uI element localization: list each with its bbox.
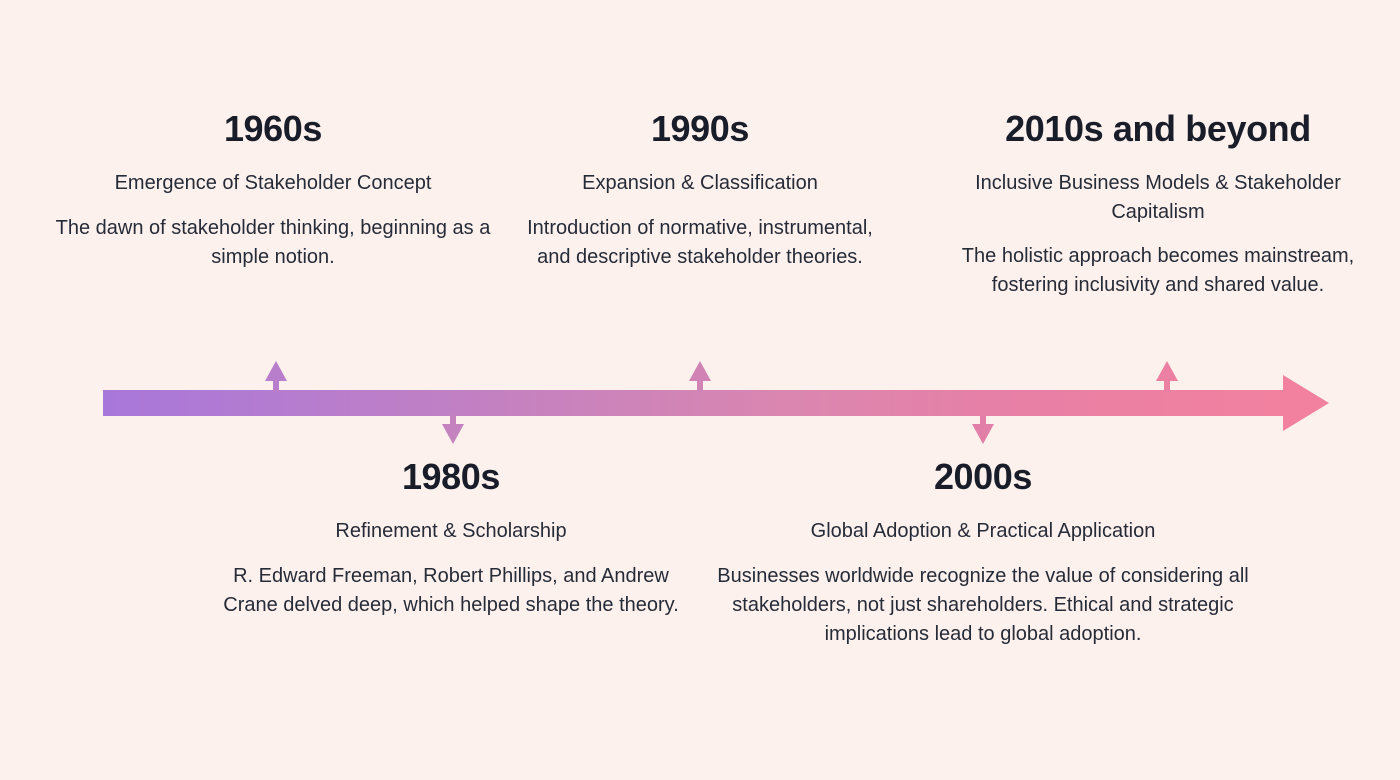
milestone-2000s-body: Businesses worldwide recognize the value… [700,562,1266,649]
milestone-1960s: 1960s Emergence of Stakeholder Concept T… [40,108,506,272]
timeline-axis [103,371,1328,435]
milestone-2000s: 2000s Global Adoption & Practical Applic… [700,456,1266,649]
timeline-diagram: 1960s Emergence of Stakeholder Concept T… [0,0,1400,780]
milestone-1990s-subtitle: Expansion & Classification [524,169,876,197]
tick-head-icon [972,424,994,444]
milestone-1990s-body: Introduction of normative, instrumental,… [524,214,876,272]
timeline-arrow-head-icon [1283,375,1329,431]
milestone-2010s-body: The holistic approach becomes mainstream… [948,242,1368,300]
tick-head-icon [689,361,711,381]
tick-marker-1960s-up-arrow-icon [264,371,288,435]
tick-marker-2000s-down-arrow-icon [971,371,995,435]
tick-stem [1164,380,1170,392]
milestone-1980s: 1980s Refinement & Scholarship R. Edward… [222,456,680,620]
milestone-1990s-title: 1990s [524,108,876,149]
tick-marker-1990s-up-arrow-icon [688,371,712,435]
tick-marker-2010s-up-arrow-icon [1155,371,1179,435]
milestone-2010s-title: 2010s and beyond [948,108,1368,149]
milestone-1960s-title: 1960s [40,108,506,149]
milestone-2000s-title: 2000s [700,456,1266,497]
milestone-1960s-subtitle: Emergence of Stakeholder Concept [40,169,506,197]
milestone-2010s: 2010s and beyond Inclusive Business Mode… [948,108,1368,300]
milestone-1980s-body: R. Edward Freeman, Robert Phillips, and … [222,562,680,620]
tick-stem [697,380,703,392]
milestone-1990s: 1990s Expansion & Classification Introdu… [524,108,876,272]
milestone-1980s-title: 1980s [222,456,680,497]
milestone-2010s-subtitle: Inclusive Business Models & Stakeholder … [948,169,1368,226]
milestone-1960s-body: The dawn of stakeholder thinking, beginn… [40,214,506,272]
tick-marker-1980s-down-arrow-icon [441,371,465,435]
milestone-2000s-subtitle: Global Adoption & Practical Application [700,517,1266,545]
tick-head-icon [442,424,464,444]
milestone-1980s-subtitle: Refinement & Scholarship [222,517,680,545]
tick-head-icon [265,361,287,381]
tick-head-icon [1156,361,1178,381]
tick-stem [273,380,279,392]
